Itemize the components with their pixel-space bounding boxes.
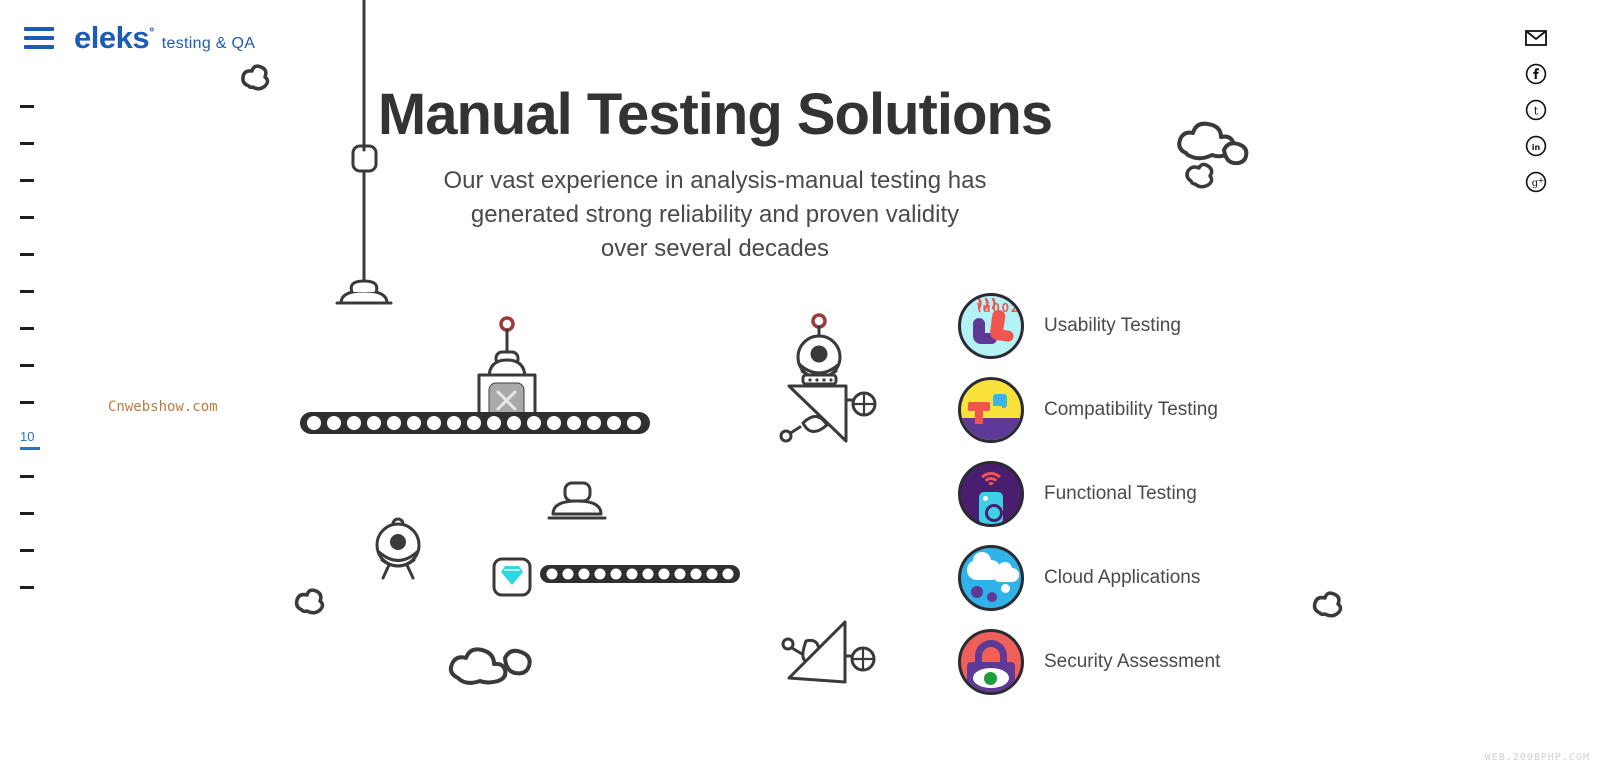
- wifi-remote-icon: [958, 461, 1024, 527]
- gear-purple-small: [987, 592, 997, 602]
- cloud-top-right: [1179, 124, 1246, 163]
- rail-dash: [20, 475, 34, 478]
- puzzle-notch: [991, 406, 1002, 418]
- rail-item-9[interactable]: [20, 384, 60, 421]
- left-rail-nav: 10: [20, 88, 60, 606]
- puzzle-base: [961, 418, 1021, 440]
- linkedin-icon[interactable]: in: [1524, 134, 1548, 158]
- service-item-security-assessment[interactable]: Security Assessment: [958, 628, 1220, 696]
- rail-item-14[interactable]: [20, 569, 60, 606]
- site-header: eleks° testing & QA: [24, 20, 255, 56]
- service-label: Cloud Applications: [1044, 567, 1200, 589]
- rail-dash: [20, 401, 34, 404]
- googleplus-icon[interactable]: g+: [1524, 170, 1548, 194]
- cloud-far-right: [1315, 593, 1341, 616]
- rail-item-4[interactable]: [20, 199, 60, 236]
- service-label: Functional Testing: [1044, 483, 1197, 505]
- rail-dash: [20, 364, 34, 367]
- rail-dash: [20, 105, 34, 108]
- crane-lamp: [337, 281, 391, 303]
- diamond-box: [494, 559, 530, 595]
- sock-purple: [973, 318, 985, 344]
- cloud-top-left: [243, 66, 268, 89]
- wifi-arc-inner: [987, 482, 995, 490]
- gear-white: [1001, 584, 1010, 593]
- service-item-functional-testing[interactable]: Functional Testing: [958, 460, 1220, 528]
- service-item-compatibility-testing[interactable]: Compatibility Testing: [958, 376, 1220, 444]
- cloud-small-right: [1187, 164, 1212, 186]
- rail-item-3[interactable]: [20, 162, 60, 199]
- service-label: Usability Testing: [1044, 315, 1181, 337]
- puzzle-icon: [958, 377, 1024, 443]
- rail-active-indicator: [20, 447, 40, 450]
- subtitle-line-1: Our vast experience in analysis-manual t…: [0, 164, 1600, 198]
- hero-section: Manual Testing Solutions Our vast experi…: [0, 82, 1600, 266]
- rail-item-7[interactable]: [20, 310, 60, 347]
- brand-name-text: eleks: [74, 20, 149, 55]
- service-label: Compatibility Testing: [1044, 399, 1218, 421]
- hamburger-icon[interactable]: [24, 27, 54, 49]
- rail-dash: [20, 549, 34, 552]
- rail-item-2[interactable]: [20, 125, 60, 162]
- rail-item-13[interactable]: [20, 532, 60, 569]
- rail-dash: [20, 253, 34, 256]
- cloud-bottom-left: [297, 590, 323, 613]
- rail-dash: [20, 179, 34, 182]
- hamburger-line: [24, 27, 54, 31]
- hamburger-line: [24, 45, 54, 49]
- social-links: t in g+: [1524, 26, 1548, 194]
- crane-cable: [353, 0, 376, 282]
- rail-dash: [20, 290, 34, 293]
- cloud-bottom-center: [451, 649, 530, 683]
- rail-item-6[interactable]: [20, 273, 60, 310]
- robot-eye-small: [377, 519, 419, 578]
- conveyor-belt-top: [300, 412, 650, 434]
- brand-registered-mark: °: [149, 25, 154, 40]
- rail-dash: [20, 216, 34, 219]
- socks-icon: \u0020: [958, 293, 1024, 359]
- rail-item-12[interactable]: [20, 495, 60, 532]
- rail-dash: [20, 512, 34, 515]
- brand-tagline: testing & QA: [162, 35, 255, 53]
- background-illustration: [0, 0, 1600, 771]
- sock-red: [989, 309, 1006, 341]
- brand-logo[interactable]: eleks° testing & QA: [74, 20, 255, 56]
- service-item-cloud-applications[interactable]: Cloud Applications: [958, 544, 1220, 612]
- gear-purple-large: [971, 586, 983, 598]
- rail-item-8[interactable]: [20, 347, 60, 384]
- rail-item-number: 10: [20, 430, 34, 444]
- subtitle-line-2: generated strong reliability and proven …: [0, 198, 1600, 232]
- robot-eye-large: [781, 315, 875, 441]
- svg-text:in: in: [1532, 143, 1541, 152]
- cloud-gear-icon: [958, 545, 1024, 611]
- hamburger-line: [24, 36, 54, 40]
- rail-dash: [20, 327, 34, 330]
- subtitle-line-3: over several decades: [0, 232, 1600, 266]
- cloud-shape-small: [993, 568, 1019, 582]
- eye-pupil: [984, 672, 997, 685]
- rail-item-10-active[interactable]: 10: [20, 421, 60, 458]
- rail-dash: [20, 586, 34, 589]
- puzzle-stem-red: [975, 408, 983, 424]
- page-title: Manual Testing Solutions: [0, 82, 1600, 148]
- twitter-icon[interactable]: t: [1524, 98, 1548, 122]
- watermark-left: Cnwebshow.com: [108, 399, 218, 415]
- hanging-lamp: [549, 483, 605, 518]
- svg-text:+: +: [1538, 176, 1545, 185]
- brand-name: eleks°: [74, 20, 154, 56]
- rail-item-1[interactable]: [20, 88, 60, 125]
- conveyor-belt-bottom: [540, 565, 740, 583]
- page-root: eleks° testing & QA 10 t: [0, 0, 1600, 771]
- facebook-icon[interactable]: [1524, 62, 1548, 86]
- service-label: Security Assessment: [1044, 651, 1220, 673]
- crate-with-x: [479, 318, 535, 421]
- rail-dash: [20, 142, 34, 145]
- rail-item-5[interactable]: [20, 236, 60, 273]
- remote-device: [979, 492, 1003, 524]
- lock-eye-icon: [958, 629, 1024, 695]
- page-subtitle: Our vast experience in analysis-manual t…: [0, 164, 1600, 266]
- rail-item-11[interactable]: [20, 458, 60, 495]
- services-list: \u0020 Usability Testing Compatibility T…: [958, 292, 1220, 696]
- watermark-right: WEB.2008PHP.COM: [1485, 752, 1590, 763]
- satellite-dish-robot: [783, 622, 874, 682]
- svg-text:t: t: [1534, 105, 1539, 118]
- mail-icon[interactable]: [1524, 26, 1548, 50]
- service-item-usability-testing[interactable]: \u0020 Usability Testing: [958, 292, 1220, 360]
